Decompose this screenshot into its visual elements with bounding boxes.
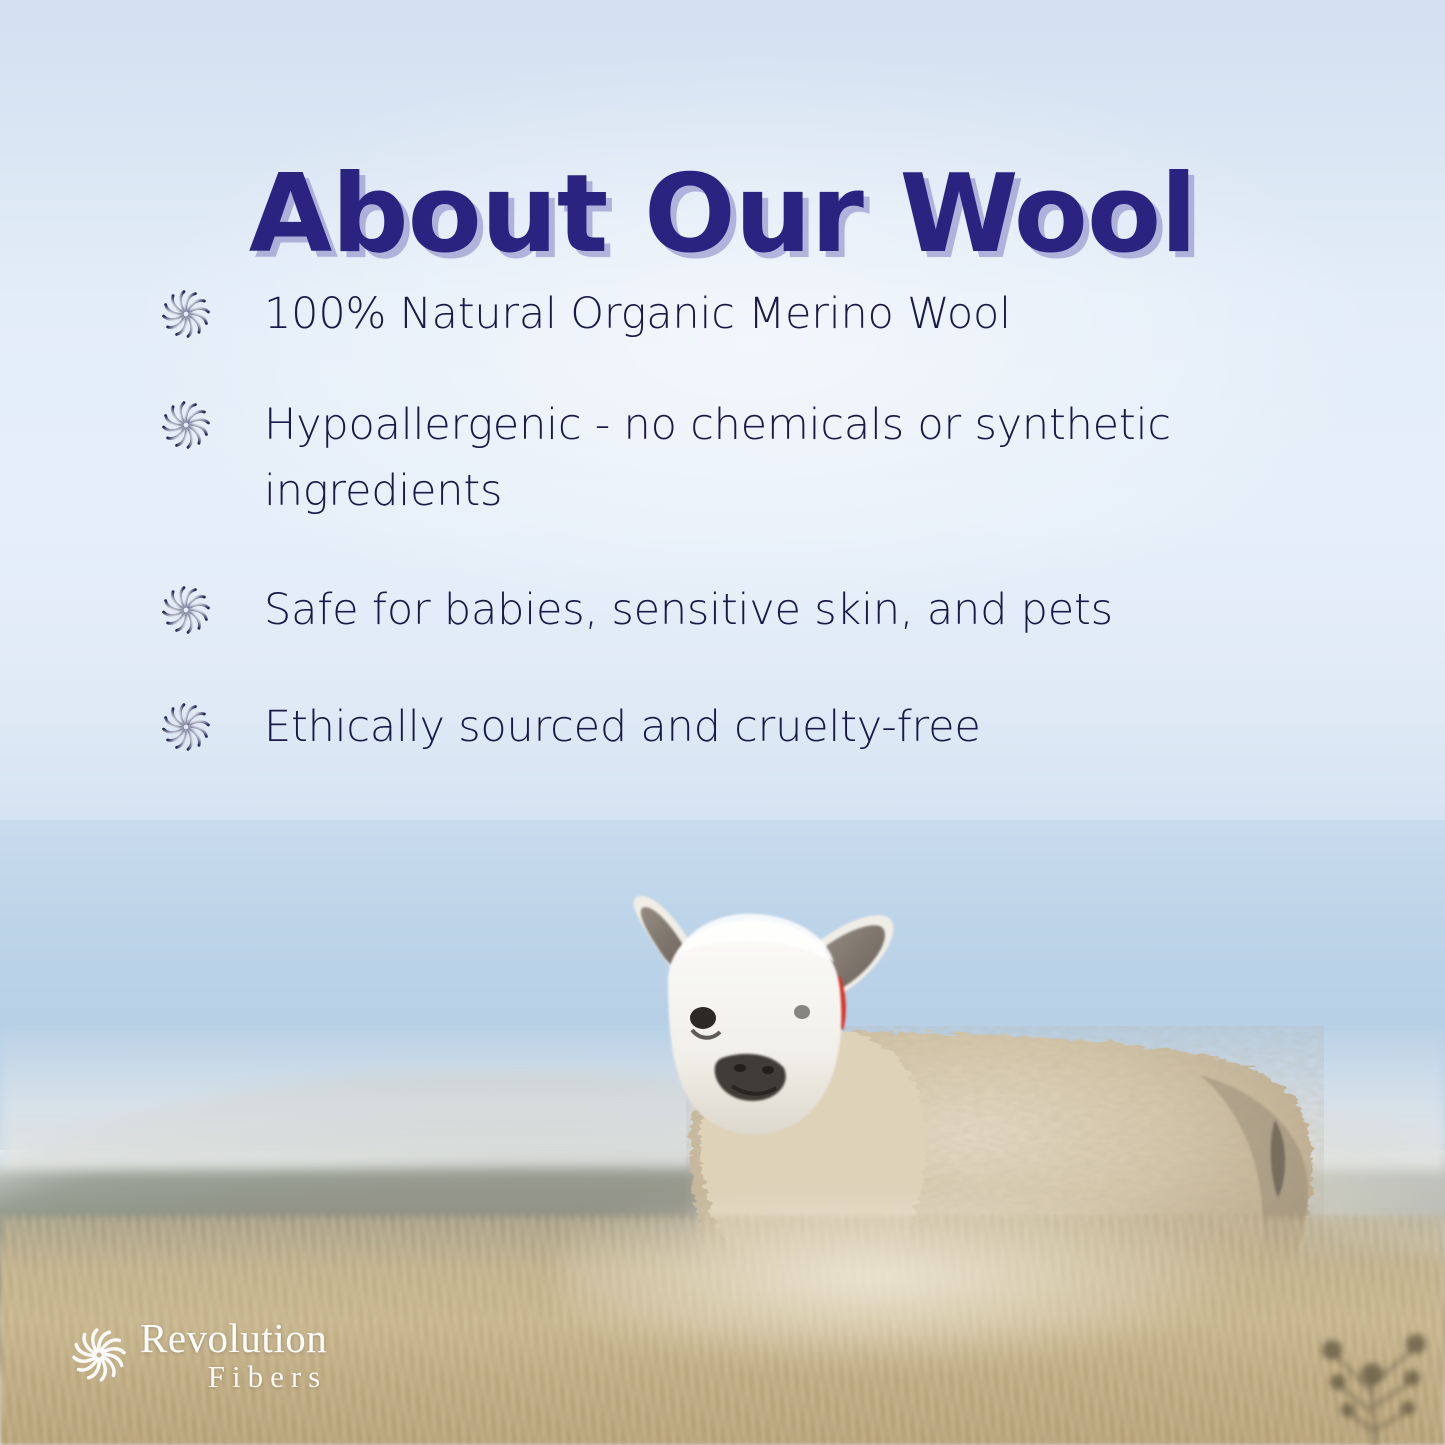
sheep-eye-right — [794, 1005, 810, 1019]
promotional-graphic: About Our Wool — [0, 0, 1445, 1445]
list-item-label: 100% Natural Organic Merino Wool — [264, 282, 1011, 347]
list-item-label: Safe for babies, sensitive skin, and pet… — [264, 578, 1113, 643]
wool-swirl-icon — [160, 288, 212, 340]
feature-list: 100% Natural Organic Merino Wool — [160, 282, 1320, 807]
logo-wordmark: Revolution Fibers — [140, 1318, 327, 1392]
list-item: Ethically sourced and cruelty-free — [160, 695, 1320, 760]
list-item: 100% Natural Organic Merino Wool — [160, 282, 1320, 347]
page-title: About Our Wool — [0, 158, 1445, 271]
list-item-label: Ethically sourced and cruelty-free — [264, 695, 981, 760]
brand-logo: Revolution Fibers — [70, 1318, 327, 1392]
logo-name: Revolution — [140, 1318, 327, 1359]
thistle-shrub — [1290, 1282, 1445, 1445]
grass-highlight — [560, 1200, 1260, 1370]
wool-swirl-icon — [70, 1326, 128, 1384]
list-item-label: Hypoallergenic - no chemicals or synthet… — [264, 393, 1254, 524]
list-item: Hypoallergenic - no chemicals or synthet… — [160, 393, 1320, 524]
list-item: Safe for babies, sensitive skin, and pet… — [160, 578, 1320, 643]
wool-swirl-icon — [160, 399, 212, 451]
wool-swirl-icon — [160, 701, 212, 753]
wool-swirl-icon — [160, 584, 212, 636]
logo-tagline: Fibers — [140, 1361, 327, 1392]
sheep-eye-left — [690, 1007, 716, 1029]
